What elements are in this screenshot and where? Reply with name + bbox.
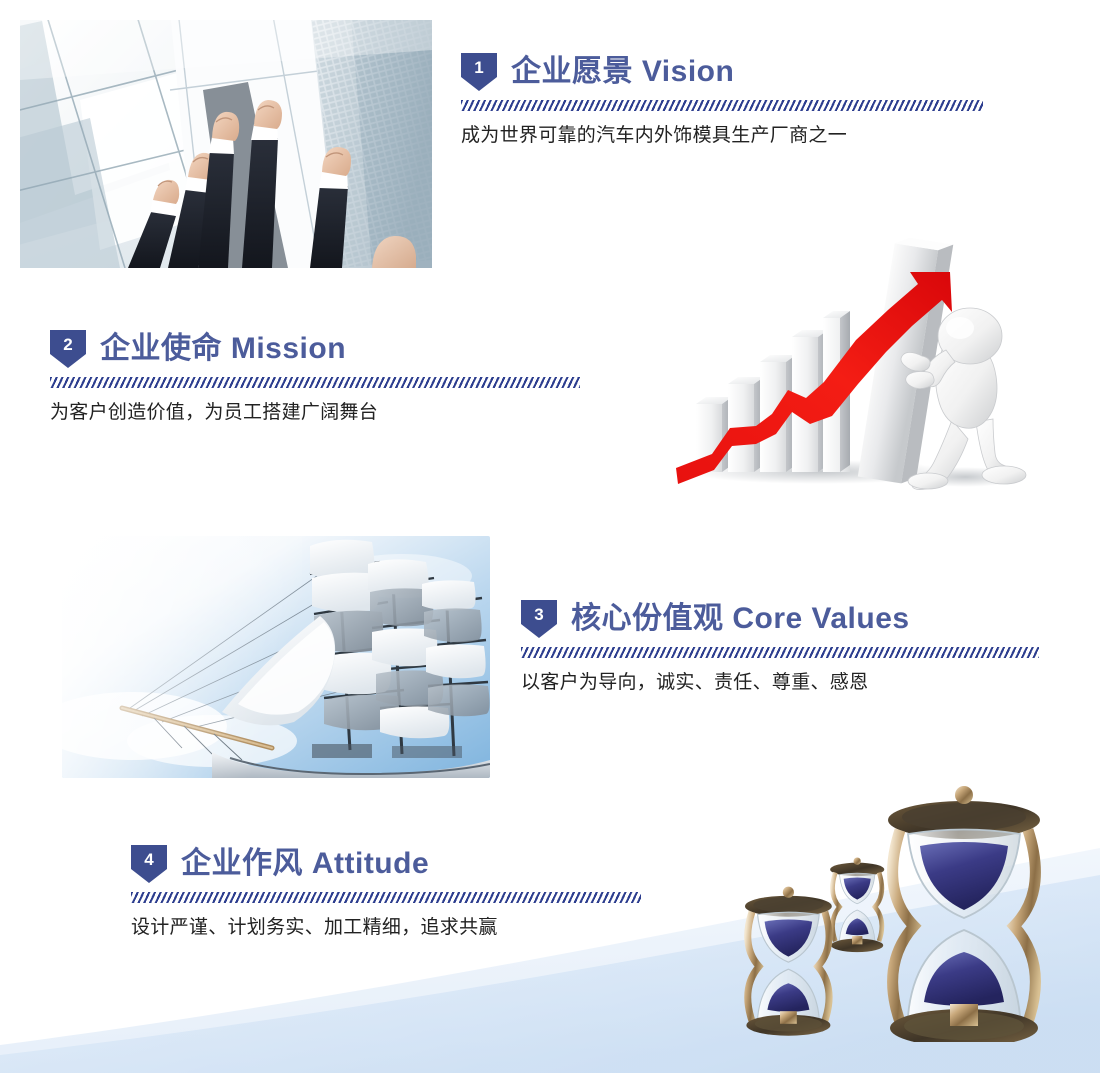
hatched-divider	[461, 100, 983, 111]
hatched-divider	[50, 377, 580, 388]
section-description: 以客户为导向，诚实、责任、尊重、感恩	[521, 669, 1096, 697]
section-description: 设计严谨、计划务实、加工精细，追求共赢	[131, 914, 701, 942]
section-header: 4 企业作风 Attitude	[131, 845, 701, 883]
section-title: 企业愿景 Vision	[511, 53, 734, 91]
section-title: 企业作风 Attitude	[181, 845, 429, 883]
attitude-illustration	[718, 780, 1050, 1042]
section-attitude: 4 企业作风 Attitude 设计严谨、计划务实、加工精细，追求共赢	[131, 845, 701, 942]
hatched-divider	[521, 647, 1039, 658]
mission-illustration	[660, 232, 1042, 490]
section-title: 企业使命 Mission	[100, 330, 346, 368]
section-description: 成为世界可靠的汽车内外饰模具生产厂商之一	[461, 122, 1037, 150]
hatched-divider	[131, 892, 641, 903]
corporate-culture-page: 1 企业愿景 Vision 成为世界可靠的汽车内外饰模具生产厂商之一 2 企业使…	[0, 0, 1100, 1073]
step-number: 4	[131, 847, 167, 873]
section-core-values: 3 核心份值观 Core Values 以客户为导向，诚实、责任、尊重、感恩	[521, 600, 1096, 697]
step-number: 3	[521, 602, 557, 628]
section-title: 核心份值观 Core Values	[571, 600, 910, 638]
step-badge-3: 3	[521, 600, 557, 638]
section-mission: 2 企业使命 Mission 为客户创造价值，为员工搭建广阔舞台	[50, 330, 642, 427]
section-description: 为客户创造价值，为员工搭建广阔舞台	[50, 399, 642, 427]
step-number: 2	[50, 332, 86, 358]
step-badge-2: 2	[50, 330, 86, 368]
section-vision: 1 企业愿景 Vision 成为世界可靠的汽车内外饰模具生产厂商之一	[461, 53, 1037, 150]
vision-photo	[20, 20, 432, 268]
section-header: 3 核心份值观 Core Values	[521, 600, 1096, 638]
step-number: 1	[461, 55, 497, 81]
section-header: 1 企业愿景 Vision	[461, 53, 1037, 91]
section-header: 2 企业使命 Mission	[50, 330, 642, 368]
core-values-photo	[62, 536, 490, 778]
step-badge-4: 4	[131, 845, 167, 883]
step-badge-1: 1	[461, 53, 497, 91]
